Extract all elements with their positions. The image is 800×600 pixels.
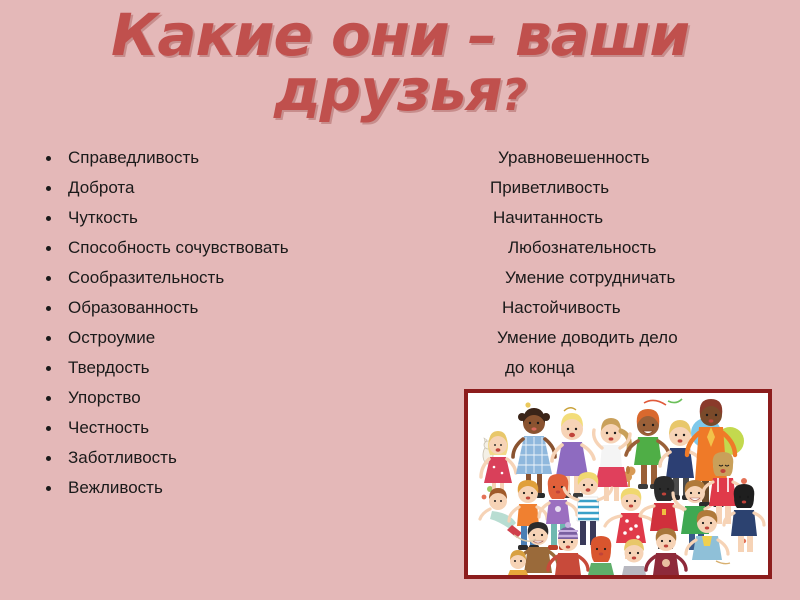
list-item-label: Упорство bbox=[68, 388, 141, 407]
list-item: Честность bbox=[42, 413, 442, 443]
list-item: Настойчивость bbox=[440, 293, 800, 323]
list-item: Приветливость bbox=[440, 173, 800, 203]
list-item: Вежливость bbox=[42, 473, 442, 503]
list-item: Доброта bbox=[42, 173, 442, 203]
title-line-2: друзья? bbox=[0, 61, 800, 120]
list-item: Упорство bbox=[42, 383, 442, 413]
bullet-icon bbox=[46, 216, 51, 221]
list-item-label: Любознательность bbox=[508, 238, 656, 257]
list-item: Уравновешенность bbox=[440, 143, 800, 173]
list-item: Образованность bbox=[42, 293, 442, 323]
list-item: Твердость bbox=[42, 353, 442, 383]
bullet-icon bbox=[46, 276, 51, 281]
picture-frame bbox=[464, 389, 772, 579]
list-item-label: Доброта bbox=[68, 178, 134, 197]
list-item: Остроумие bbox=[42, 323, 442, 353]
list-item-label: Вежливость bbox=[68, 478, 163, 497]
list-item: Чуткость bbox=[42, 203, 442, 233]
qualities-list-left: Справедливость Доброта Чуткость Способно… bbox=[42, 143, 442, 503]
children-heart-svg bbox=[468, 393, 768, 575]
list-item-label: Умение доводить дело bbox=[497, 328, 678, 347]
bullet-icon bbox=[46, 336, 51, 341]
list-item: Любознательность bbox=[440, 233, 800, 263]
list-item: Сообразительность bbox=[42, 263, 442, 293]
list-item: Умение сотрудничать bbox=[440, 263, 800, 293]
title-question-mark: ? bbox=[502, 70, 527, 121]
bullet-icon bbox=[46, 366, 51, 371]
list-item: Способность сочувствовать bbox=[42, 233, 442, 263]
list-item-label: Твердость bbox=[68, 358, 150, 377]
title-line-2-text: друзья bbox=[274, 56, 502, 124]
bullet-icon bbox=[46, 396, 51, 401]
bullet-icon bbox=[46, 426, 51, 431]
list-item-label: до конца bbox=[505, 358, 575, 377]
list-item-label: Остроумие bbox=[68, 328, 155, 347]
list-item: Заботливость bbox=[42, 443, 442, 473]
slide-canvas: Какие они – ваши друзья? Справедливость … bbox=[0, 0, 800, 600]
list-item-label: Настойчивость bbox=[502, 298, 621, 317]
list-item: до конца bbox=[440, 353, 800, 383]
bullet-icon bbox=[46, 486, 51, 491]
bullet-icon bbox=[46, 456, 51, 461]
qualities-list-right: Уравновешенность Приветливость Начитанно… bbox=[440, 143, 800, 383]
list-item: Умение доводить дело bbox=[440, 323, 800, 353]
bullet-icon bbox=[46, 246, 51, 251]
bullet-icon bbox=[46, 156, 51, 161]
list-item-label: Способность сочувствовать bbox=[68, 238, 289, 257]
list-item: Начитанность bbox=[440, 203, 800, 233]
bullet-icon bbox=[46, 306, 51, 311]
page-title: Какие они – ваши друзья? bbox=[0, 6, 800, 120]
bullet-icon bbox=[46, 186, 51, 191]
children-heart-illustration bbox=[468, 393, 768, 575]
list-item: Справедливость bbox=[42, 143, 442, 173]
list-item-label: Уравновешенность bbox=[498, 148, 650, 167]
list-item-label: Начитанность bbox=[493, 208, 603, 227]
list-item-label: Сообразительность bbox=[68, 268, 224, 287]
list-item-label: Умение сотрудничать bbox=[505, 268, 675, 287]
list-item-label: Образованность bbox=[68, 298, 198, 317]
list-item-label: Приветливость bbox=[490, 178, 609, 197]
list-item-label: Справедливость bbox=[68, 148, 199, 167]
list-item-label: Чуткость bbox=[68, 208, 138, 227]
list-item-label: Честность bbox=[68, 418, 149, 437]
list-item-label: Заботливость bbox=[68, 448, 177, 467]
